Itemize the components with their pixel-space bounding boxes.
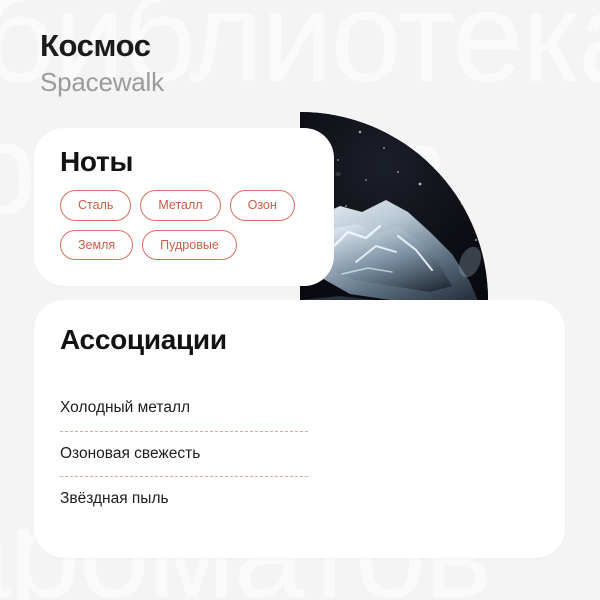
association-divider — [60, 431, 308, 432]
association-divider — [60, 476, 308, 477]
notes-tag-list: Сталь Металл Озон Земля Пудровые — [60, 190, 310, 260]
poster-canvas: библиотека ароматов ароматов — [0, 0, 600, 600]
note-tag[interactable]: Пудровые — [142, 230, 237, 261]
note-tag[interactable]: Сталь — [60, 190, 131, 221]
page-title-group: Космос Spacewalk — [40, 28, 164, 98]
associations-card: Ассоциации Холодный металл Озоновая свеж… — [34, 300, 565, 558]
notes-card: Ноты Сталь Металл Озон Земля Пудровые — [34, 128, 334, 286]
association-item: Холодный металл — [60, 386, 310, 431]
notes-heading: Ноты — [60, 146, 133, 178]
note-tag[interactable]: Озон — [230, 190, 295, 221]
associations-heading: Ассоциации — [60, 324, 227, 356]
page-subtitle: Spacewalk — [40, 67, 164, 98]
association-item: Озоновая свежесть — [60, 432, 310, 477]
note-tag[interactable]: Земля — [60, 230, 133, 261]
associations-list: Холодный металл Озоновая свежесть Звёздн… — [60, 386, 310, 522]
association-item: Звёздная пыль — [60, 477, 310, 522]
note-tag[interactable]: Металл — [140, 190, 220, 221]
page-title: Космос — [40, 28, 164, 65]
